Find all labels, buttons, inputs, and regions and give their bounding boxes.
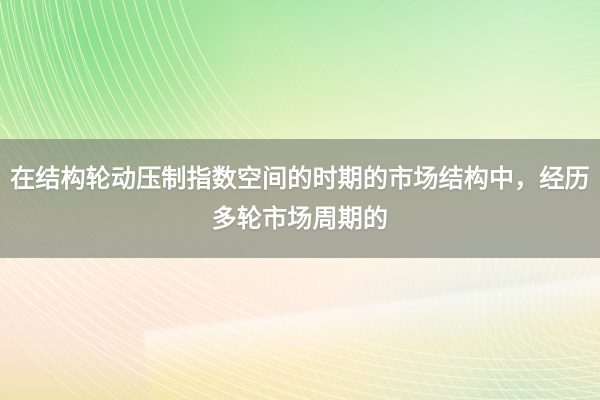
headline-overlay-band: 在结构轮动压制指数空间的时期的市场结构中，经历多轮市场周期的 <box>0 139 600 258</box>
page-title: 在结构轮动压制指数空间的时期的市场结构中，经历多轮市场周期的 <box>0 159 600 239</box>
banner-canvas: 在结构轮动压制指数空间的时期的市场结构中，经历多轮市场周期的 <box>0 0 600 400</box>
